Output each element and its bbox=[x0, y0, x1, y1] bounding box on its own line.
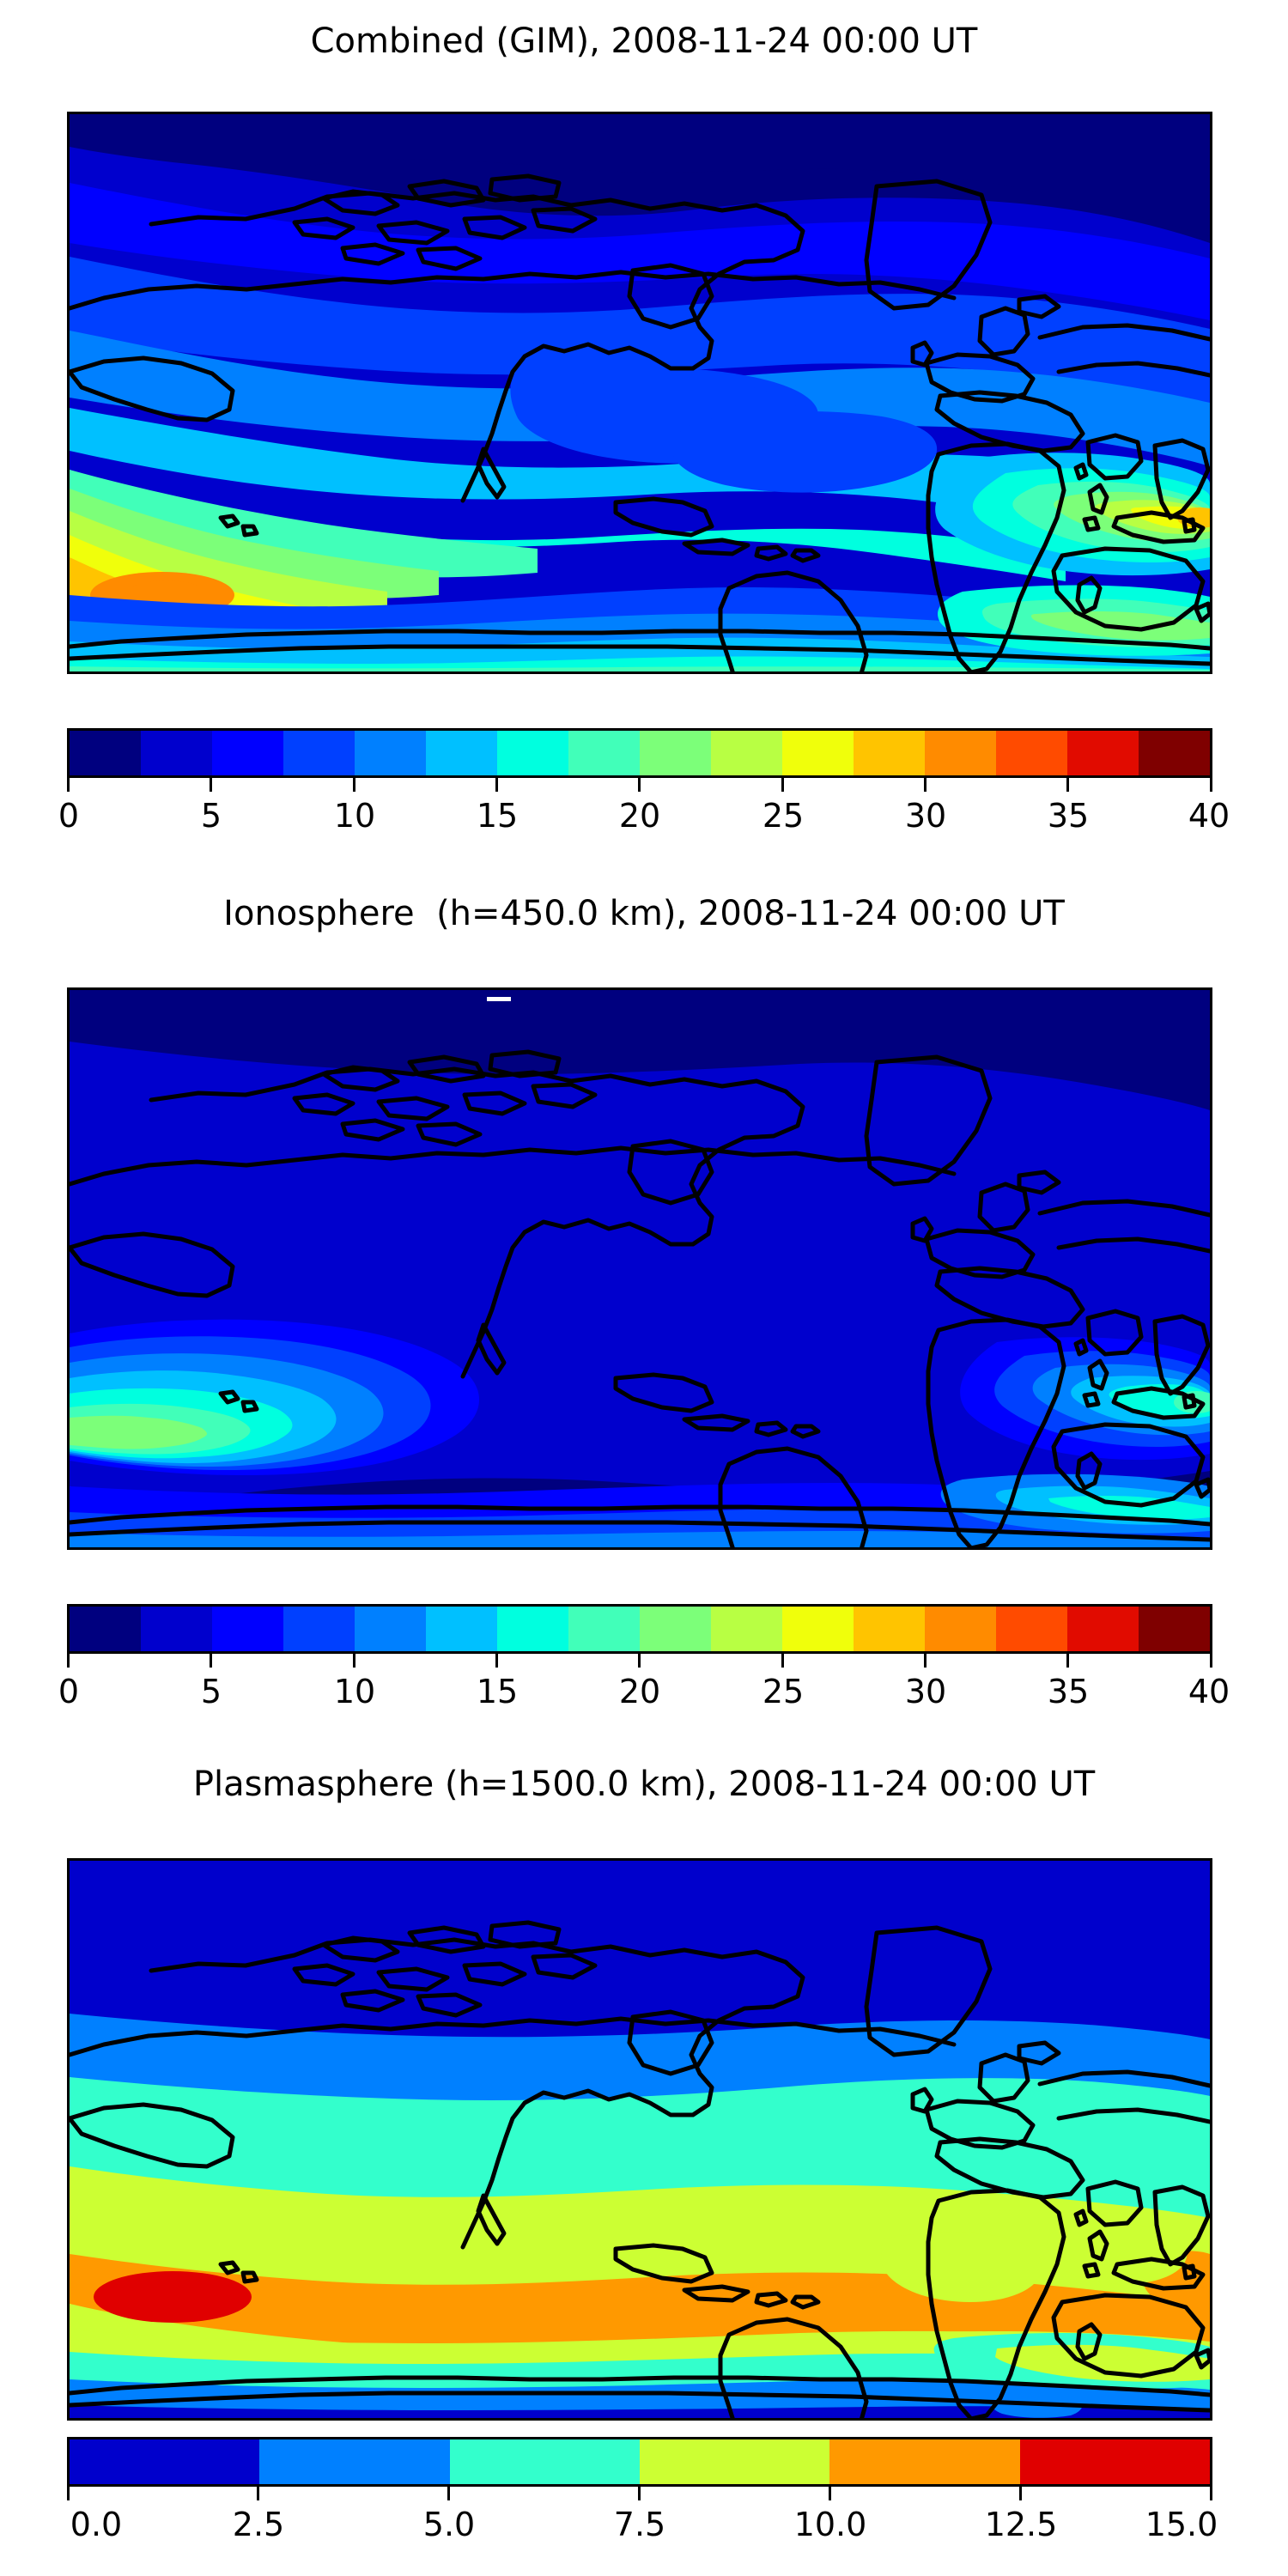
cbar-ticklabel: 10 bbox=[334, 1673, 375, 1710]
cbar-ticklabel: 40 bbox=[1188, 797, 1230, 835]
cbar-ticklabel: 5 bbox=[201, 1673, 222, 1710]
cbar-ticklabel: 5 bbox=[201, 797, 222, 835]
cbar-ticklabel: 10.0 bbox=[794, 2506, 867, 2543]
cbar-ticklabel: 25 bbox=[762, 1673, 804, 1710]
cbar-ticklabel: 30 bbox=[905, 1673, 946, 1710]
cbar-ticklabel: 35 bbox=[1048, 1673, 1089, 1710]
cbar-ticklabel: 10 bbox=[334, 797, 375, 835]
colorbar-ionosphere: 0 5 10 15 20 25 30 35 40 bbox=[67, 1604, 1212, 1733]
cbar-ticklabel: 15 bbox=[477, 1673, 518, 1710]
cbar-ticklabel: 0 bbox=[58, 797, 79, 835]
cbar-ticklabel: 25 bbox=[762, 797, 804, 835]
cbar-ticklabel: 15.0 bbox=[1145, 2506, 1218, 2543]
colorbar-combined: 0 5 10 15 20 25 30 35 40 bbox=[67, 728, 1212, 857]
panel-title-plasmasphere: Plasmasphere (h=1500.0 km), 2008-11-24 0… bbox=[0, 1767, 1288, 1801]
cbar-ticklabel: 2.5 bbox=[233, 2506, 284, 2543]
colorbar-swatches-plasmasphere bbox=[67, 2437, 1212, 2487]
map-canvas-ionosphere bbox=[70, 990, 1210, 1547]
cbar-ticklabel: 12.5 bbox=[985, 2506, 1058, 2543]
cbar-ticklabel: 5.0 bbox=[423, 2506, 475, 2543]
map-canvas-plasmasphere bbox=[70, 1861, 1210, 2418]
map-ionosphere bbox=[67, 987, 1212, 1550]
map-plasmasphere bbox=[67, 1858, 1212, 2421]
panel-title-ionosphere: Ionosphere (h=450.0 km), 2008-11-24 00:0… bbox=[0, 896, 1288, 931]
map-combined-gim bbox=[67, 112, 1212, 674]
cbar-ticklabel: 40 bbox=[1188, 1673, 1230, 1710]
panel-title-combined: Combined (GIM), 2008-11-24 00:00 UT bbox=[0, 24, 1288, 58]
tec-figure: Combined (GIM), 2008-11-24 00:00 UT bbox=[0, 0, 1288, 2576]
cbar-ticklabel: 35 bbox=[1048, 797, 1089, 835]
map-canvas-combined bbox=[70, 114, 1210, 671]
cbar-ticklabel: 15 bbox=[477, 797, 518, 835]
cbar-ticklabel: 20 bbox=[619, 797, 660, 835]
cbar-ticklabel: 30 bbox=[905, 797, 946, 835]
colorbar-swatches-combined bbox=[67, 728, 1212, 778]
colorbar-swatches-ionosphere bbox=[67, 1604, 1212, 1654]
cbar-ticklabel: 20 bbox=[619, 1673, 660, 1710]
cbar-ticklabel: 0.0 bbox=[70, 2506, 122, 2543]
cbar-ticklabel: 0 bbox=[58, 1673, 79, 1710]
cbar-ticklabel: 7.5 bbox=[614, 2506, 665, 2543]
colorbar-plasmasphere: 0.0 2.5 5.0 7.5 10.0 12.5 15.0 bbox=[67, 2437, 1212, 2566]
